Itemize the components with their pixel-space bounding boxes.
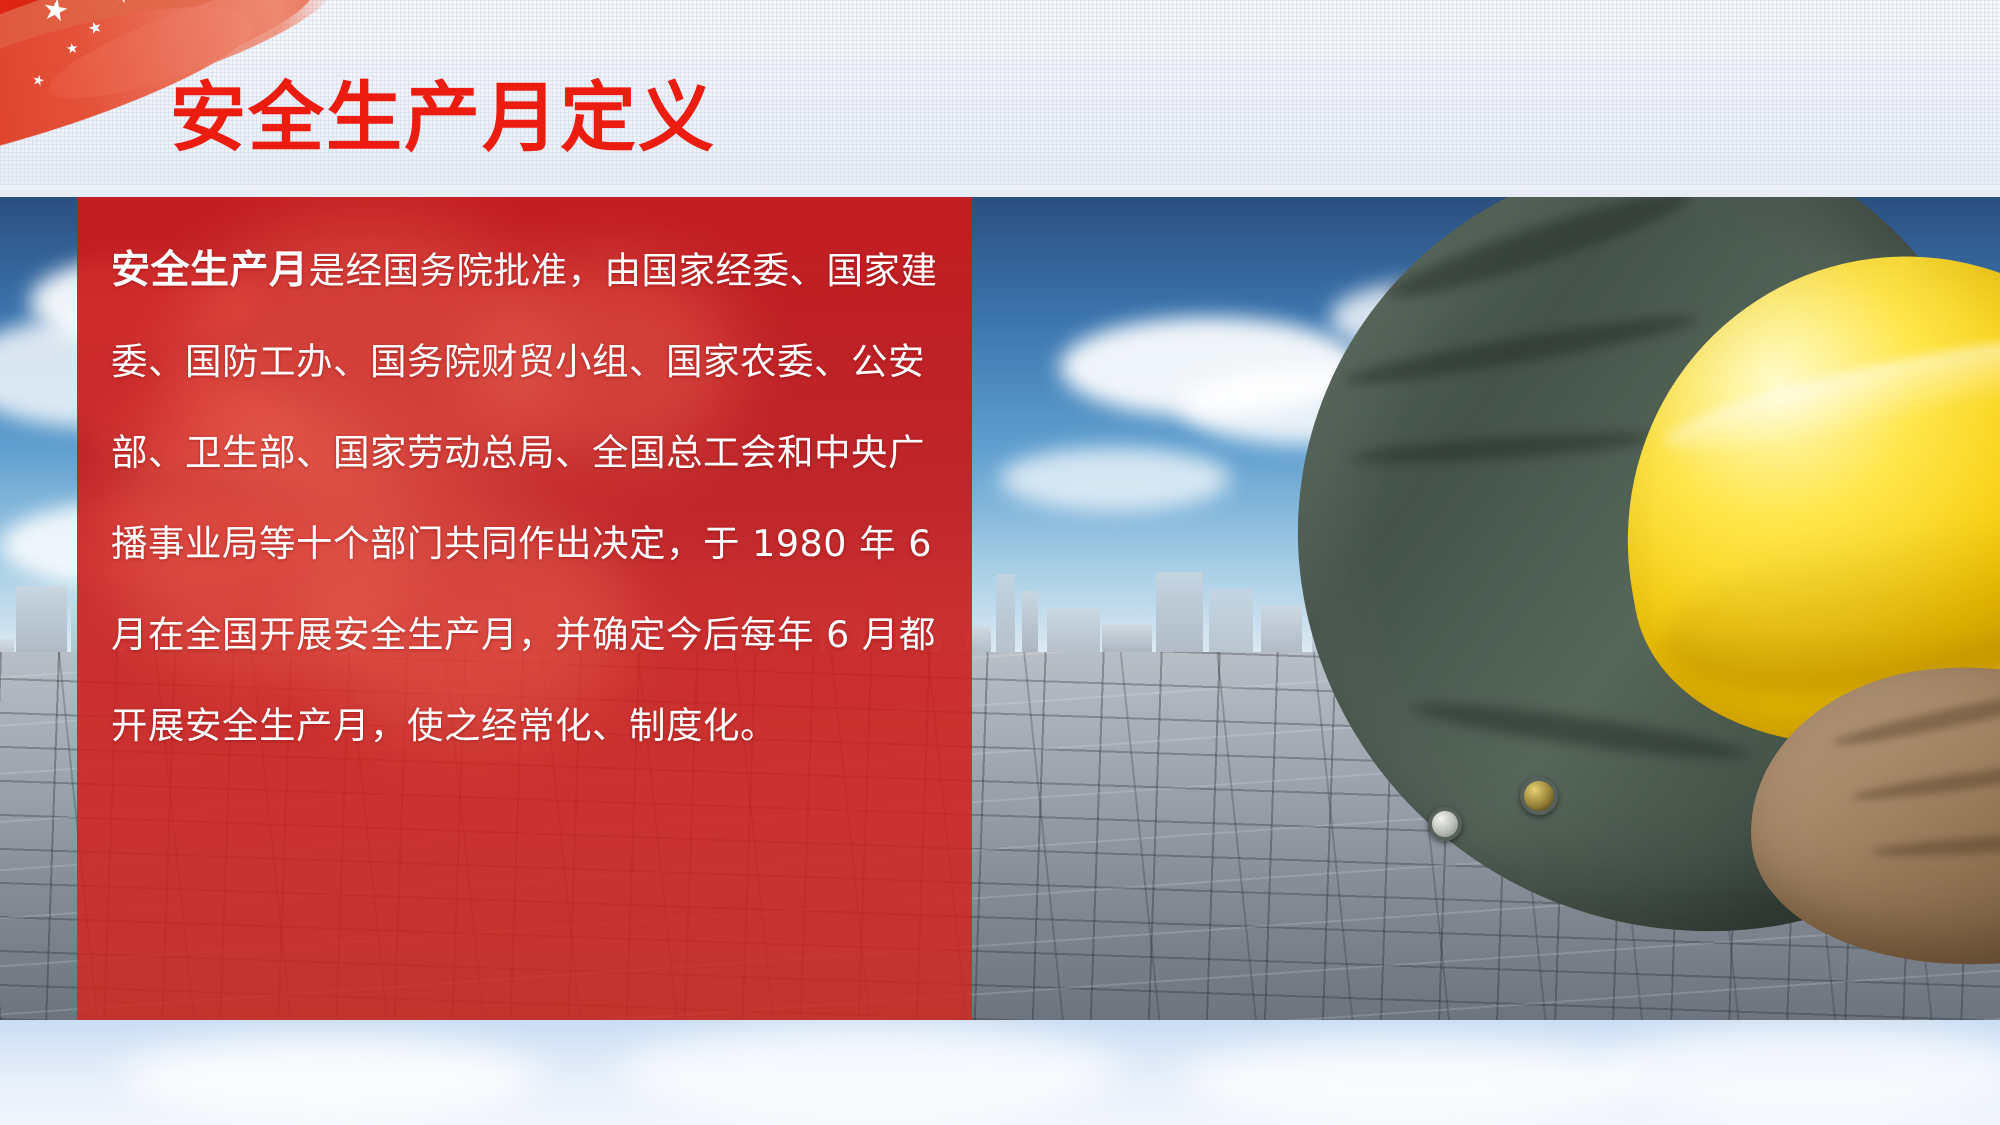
skyline-building bbox=[1022, 591, 1038, 657]
footer-cloud bbox=[1600, 1028, 2000, 1118]
footer-cloud bbox=[1180, 1042, 1640, 1120]
definition-lead: 安全生产月 bbox=[111, 248, 309, 293]
definition-text: 安全生产月是经国务院批准，由国家经委、国家建委、国防工办、国务院财贸小组、国家农… bbox=[111, 225, 942, 771]
slide-root: ★ ★ ★ ★ ★ 安全生产月定义 bbox=[0, 0, 2000, 1125]
cloud bbox=[1000, 447, 1230, 511]
skyline-building bbox=[1156, 572, 1203, 657]
definition-body: 是经国务院批准，由国家经委、国家建委、国防工办、国务院财贸小组、国家农委、公安部… bbox=[111, 249, 938, 747]
page-title: 安全生产月定义 bbox=[170, 56, 716, 166]
footer-cloud bbox=[620, 1026, 1120, 1122]
skyline-building bbox=[996, 574, 1015, 657]
worker-photo bbox=[1230, 197, 2000, 1020]
footer-cloud-band bbox=[0, 1020, 2000, 1125]
skyline-building bbox=[16, 586, 67, 657]
skyline-building bbox=[1047, 608, 1100, 657]
definition-panel: 安全生产月是经国务院批准，由国家经委、国家建委、国防工办、国务院财贸小组、国家农… bbox=[77, 197, 972, 1020]
jacket-snap-button bbox=[1428, 807, 1462, 841]
jacket-eyelet bbox=[1520, 777, 1558, 815]
footer-cloud bbox=[120, 1038, 540, 1118]
